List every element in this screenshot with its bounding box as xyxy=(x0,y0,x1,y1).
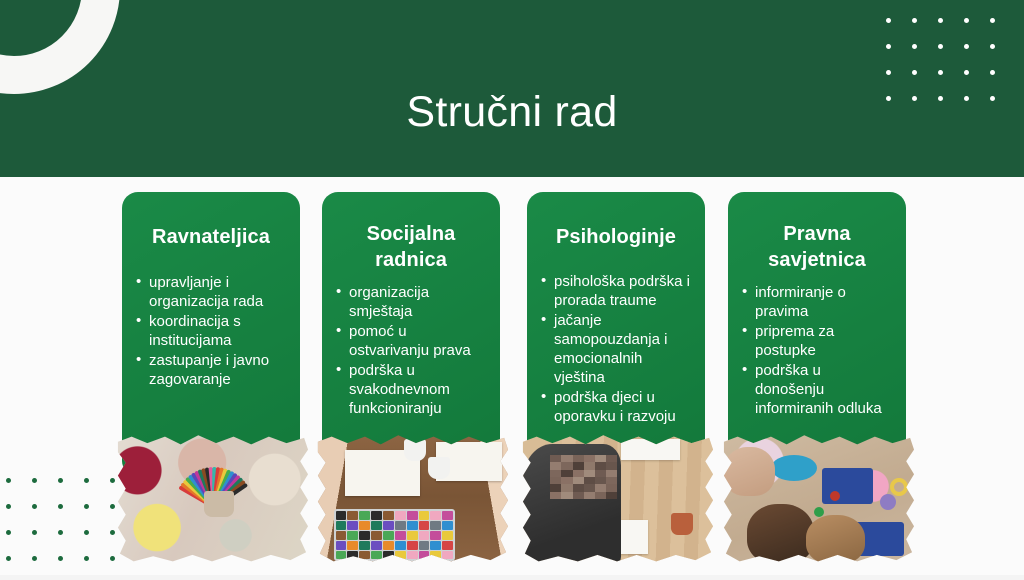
marker-cap xyxy=(430,511,441,520)
card-title: Socijalna radnica xyxy=(334,221,488,273)
pixel-block xyxy=(550,477,561,484)
dot xyxy=(58,504,63,509)
craft-ring xyxy=(890,478,908,496)
pixel-block xyxy=(573,492,584,499)
list-item: jačanje samopouzdanja i emocionalnih vje… xyxy=(541,311,693,387)
child-figure xyxy=(747,504,814,564)
art-supplies-photo xyxy=(114,434,310,564)
pixel-block xyxy=(606,455,617,462)
marker-cap xyxy=(419,551,430,560)
paint-blob xyxy=(814,507,824,517)
card-title: Pravna savjetnica xyxy=(740,221,894,273)
dot xyxy=(886,44,891,49)
pen-cup xyxy=(204,491,234,517)
list-item: podrška u svakodnevnom funkcioniranju xyxy=(336,361,488,418)
pixel-block xyxy=(584,477,595,484)
marker-cap xyxy=(442,531,453,540)
role-card-psihologinje[interactable]: Psihologinje psihološka podrška i prorad… xyxy=(527,192,705,532)
pixel-block xyxy=(561,455,572,462)
marker-cap xyxy=(395,551,406,560)
marker-cap xyxy=(407,531,418,540)
dot xyxy=(886,70,891,75)
pixel-block xyxy=(550,455,561,462)
role-card-ravnateljica[interactable]: Ravnateljica upravljanje i organizacija … xyxy=(122,192,300,532)
marker-cap xyxy=(419,531,430,540)
dot xyxy=(964,44,969,49)
child-figure xyxy=(806,515,865,564)
pixel-block xyxy=(561,462,572,469)
marker-cap xyxy=(407,521,418,530)
pixel-block xyxy=(606,477,617,484)
pixel-block xyxy=(606,462,617,469)
marker-cap xyxy=(407,551,418,560)
pixel-block xyxy=(584,470,595,477)
dot xyxy=(912,18,917,23)
marker-cap xyxy=(371,551,382,560)
marker-cap xyxy=(442,521,453,530)
marker-cap xyxy=(359,531,370,540)
dot xyxy=(6,530,11,535)
marker-cap xyxy=(395,531,406,540)
marker-cap xyxy=(442,541,453,550)
dot xyxy=(938,70,943,75)
marker-cap xyxy=(371,531,382,540)
pixel-block xyxy=(573,484,584,491)
card-title: Psihologinje xyxy=(539,224,693,250)
marker-cap xyxy=(419,521,430,530)
marker-cap xyxy=(442,551,453,560)
pixel-block xyxy=(595,484,606,491)
pixel-block xyxy=(550,462,561,469)
marker-cap xyxy=(419,541,430,550)
pixel-block xyxy=(595,492,606,499)
pixel-block xyxy=(595,455,606,462)
marker-cap xyxy=(395,541,406,550)
dot xyxy=(58,530,63,535)
marker-cap xyxy=(430,551,441,560)
dot xyxy=(912,44,917,49)
list-item: psihološka podrška i prorada traume xyxy=(541,272,693,310)
dot xyxy=(32,504,37,509)
dot xyxy=(6,504,11,509)
bottom-edge-strip xyxy=(0,575,1024,580)
marker-cap xyxy=(347,531,358,540)
pixel-block xyxy=(550,470,561,477)
pixel-block xyxy=(573,455,584,462)
dot xyxy=(110,504,115,509)
page-title: Stručni rad xyxy=(0,86,1024,138)
pixel-block xyxy=(595,477,606,484)
pixel-block xyxy=(550,484,561,491)
list-item: informiranje o pravima xyxy=(742,283,894,321)
role-card-pravna-savjetnica[interactable]: Pravna savjetnica informiranje o pravima… xyxy=(728,192,906,532)
dot xyxy=(84,530,89,535)
marker-cap xyxy=(359,551,370,560)
marker-cap xyxy=(347,541,358,550)
marker-cap xyxy=(336,511,347,520)
pixel-block xyxy=(561,470,572,477)
dot xyxy=(938,18,943,23)
paint-blob xyxy=(830,491,840,501)
marker-cap xyxy=(383,541,394,550)
dot xyxy=(964,18,969,23)
marker-cap xyxy=(347,511,358,520)
dot xyxy=(110,556,115,561)
craft-tray xyxy=(822,468,873,504)
dot xyxy=(990,70,995,75)
presentation-slide: Stručni rad Ravnateljica upravljanje i o… xyxy=(0,0,1024,580)
dot xyxy=(886,18,891,23)
dot xyxy=(84,478,89,483)
dot xyxy=(84,556,89,561)
marker-cap xyxy=(371,511,382,520)
dot xyxy=(990,44,995,49)
card-body: Psihologinje psihološka podrška i prorad… xyxy=(527,192,705,460)
craft-plate xyxy=(771,455,817,481)
dot xyxy=(6,556,11,561)
marker-cap xyxy=(430,521,441,530)
marker-set xyxy=(334,509,456,561)
marker-cap xyxy=(419,511,430,520)
marker-cap xyxy=(395,521,406,530)
dot xyxy=(964,70,969,75)
photo-scene xyxy=(720,434,916,564)
paint-blob xyxy=(880,494,896,510)
dot xyxy=(58,478,63,483)
marker-cap xyxy=(359,521,370,530)
card-bullet-list: organizacija smještaja pomoć u ostvariva… xyxy=(334,283,488,418)
pixel-block xyxy=(595,462,606,469)
list-item: zastupanje i javno zagovaranje xyxy=(136,351,288,389)
role-card-socijalna-radnica[interactable]: Socijalna radnica organizacija smještaja… xyxy=(322,192,500,532)
marker-cap xyxy=(336,531,347,540)
marker-cap xyxy=(336,521,347,530)
card-bullet-list: informiranje o pravima priprema za postu… xyxy=(740,283,894,418)
bead-cup xyxy=(428,457,450,479)
card-title: Ravnateljica xyxy=(134,224,288,250)
dot xyxy=(938,44,943,49)
dot xyxy=(110,478,115,483)
marker-cap xyxy=(383,531,394,540)
card-body: Ravnateljica upravljanje i organizacija … xyxy=(122,192,300,475)
children-craft-photo xyxy=(720,434,916,564)
list-item: podrška djeci u oporavku i razvoju xyxy=(541,388,693,426)
pixel-block xyxy=(606,470,617,477)
marker-cap xyxy=(383,521,394,530)
photo-scene xyxy=(519,434,715,564)
list-item: podrška u donošenju informiranih odluka xyxy=(742,361,894,418)
card-bullet-list: upravljanje i organizacija rada koordina… xyxy=(134,273,288,389)
mug xyxy=(671,513,693,535)
ring-arc-decoration xyxy=(0,0,120,94)
marker-cap xyxy=(371,521,382,530)
marker-cap xyxy=(347,521,358,530)
pixel-block xyxy=(550,492,561,499)
dot xyxy=(58,556,63,561)
pixel-block xyxy=(584,492,595,499)
slide-header-band: Stručni rad xyxy=(0,0,1024,177)
pixel-block xyxy=(561,492,572,499)
marker-cap xyxy=(430,541,441,550)
marker-cap xyxy=(407,511,418,520)
marker-cap xyxy=(430,531,441,540)
pixel-block xyxy=(606,484,617,491)
pixel-block xyxy=(573,462,584,469)
dot xyxy=(32,556,37,561)
marker-cap xyxy=(336,551,347,560)
marker-cap xyxy=(395,511,406,520)
list-item: pomoć u ostvarivanju prava xyxy=(336,322,488,360)
dot xyxy=(32,478,37,483)
pixelated-face-redaction xyxy=(550,455,617,499)
pixel-block xyxy=(584,484,595,491)
marker-cap xyxy=(383,511,394,520)
roles-card-row: Ravnateljica upravljanje i organizacija … xyxy=(0,177,1024,580)
pixel-block xyxy=(573,470,584,477)
dot xyxy=(32,530,37,535)
pixel-block xyxy=(561,477,572,484)
marker-cap xyxy=(442,511,453,520)
dot xyxy=(6,478,11,483)
pixel-block xyxy=(561,484,572,491)
dot xyxy=(912,70,917,75)
pixel-block xyxy=(584,462,595,469)
child-figure xyxy=(724,447,775,496)
list-item: koordinacija s institucijama xyxy=(136,312,288,350)
footer-dot-grid-decoration xyxy=(6,478,138,564)
dot xyxy=(990,18,995,23)
marker-cap xyxy=(371,541,382,550)
list-item: upravljanje i organizacija rada xyxy=(136,273,288,311)
counselling-session-photo xyxy=(519,434,715,564)
marker-cap xyxy=(336,541,347,550)
list-item: organizacija smještaja xyxy=(336,283,488,321)
pixel-block xyxy=(595,470,606,477)
card-bullet-list: psihološka podrška i prorada traume jača… xyxy=(539,272,693,426)
dot xyxy=(84,504,89,509)
photo-scene xyxy=(114,434,310,564)
paper-sheet xyxy=(621,439,680,460)
marker-cap xyxy=(407,541,418,550)
dot xyxy=(110,530,115,535)
marker-cap xyxy=(359,511,370,520)
pixel-block xyxy=(584,455,595,462)
marker-cap xyxy=(359,541,370,550)
card-body: Pravna savjetnica informiranje o pravima… xyxy=(728,192,906,460)
list-item: priprema za postupke xyxy=(742,322,894,360)
markers-workshop-photo xyxy=(314,434,510,564)
photo-scene xyxy=(314,434,510,564)
pixel-block xyxy=(573,477,584,484)
marker-cap xyxy=(383,551,394,560)
marker-cap xyxy=(347,551,358,560)
pixel-block xyxy=(606,492,617,499)
card-body: Socijalna radnica organizacija smještaja… xyxy=(322,192,500,460)
